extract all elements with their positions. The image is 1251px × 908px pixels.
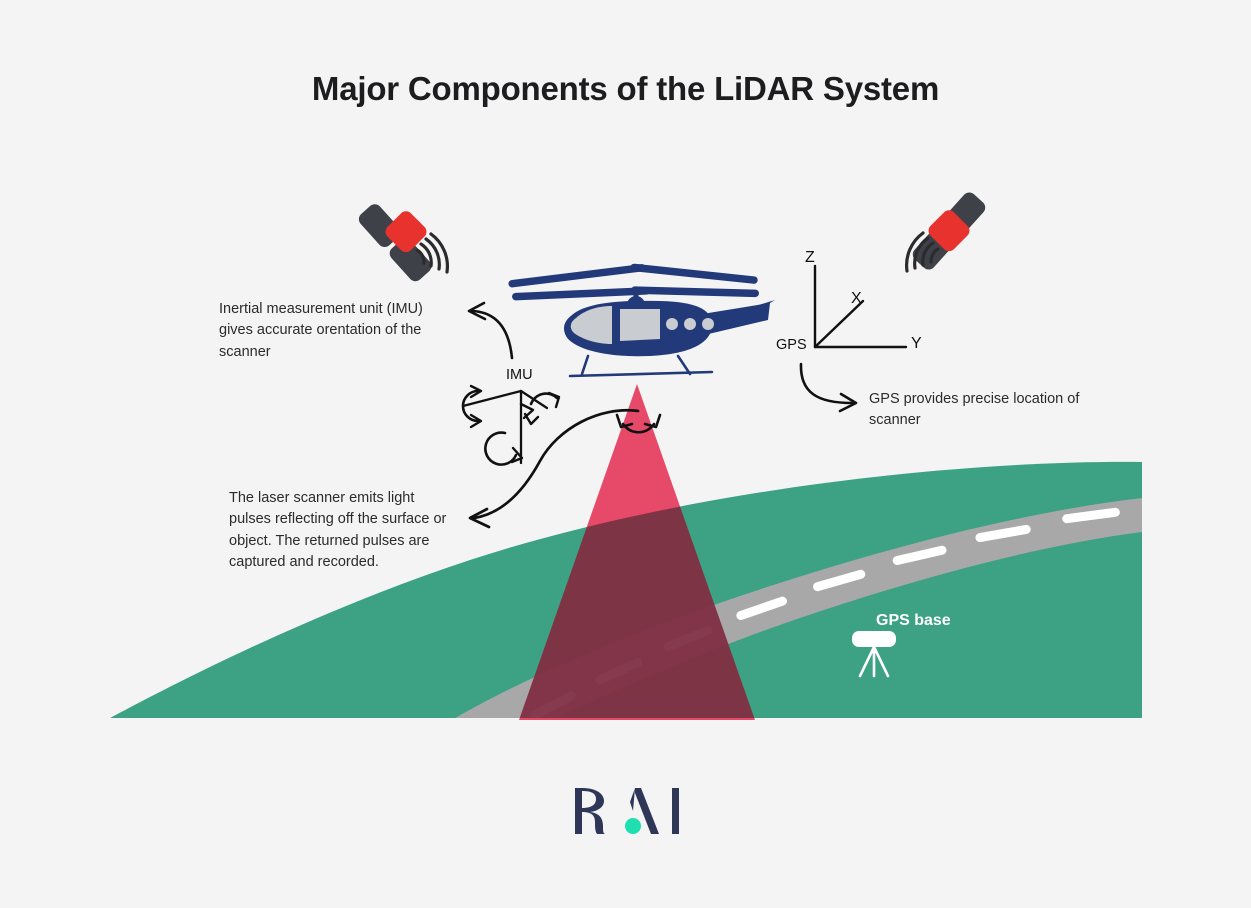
axis-label-z: Z — [805, 249, 815, 267]
gps-callout-arrow — [801, 364, 856, 411]
axis-origin-label-gps: GPS — [776, 337, 807, 353]
axis-label-y: Y — [911, 335, 922, 353]
gps-note-text: GPS provides precise location of scanner — [869, 389, 1089, 432]
imu-label: IMU — [506, 367, 533, 383]
page-title: Major Components of the LiDAR System — [0, 70, 1251, 108]
imu-note-text: Inertial measurement unit (IMU) gives ac… — [219, 299, 449, 363]
scene-illustration — [0, 0, 1251, 908]
logo-dot — [625, 818, 641, 834]
infographic-canvas: Major Components of the LiDAR System Ine… — [0, 0, 1251, 908]
rai-logo — [573, 784, 683, 838]
satellite-icon — [356, 201, 447, 284]
imu-callout-arrow — [469, 303, 512, 358]
satellite-icon — [907, 190, 989, 273]
laser-note-text: The laser scanner emits light pulses ref… — [229, 488, 457, 574]
gps-base-label: GPS base — [876, 612, 951, 630]
helicopter-icon — [508, 263, 775, 376]
axis-label-x: X — [851, 290, 862, 308]
